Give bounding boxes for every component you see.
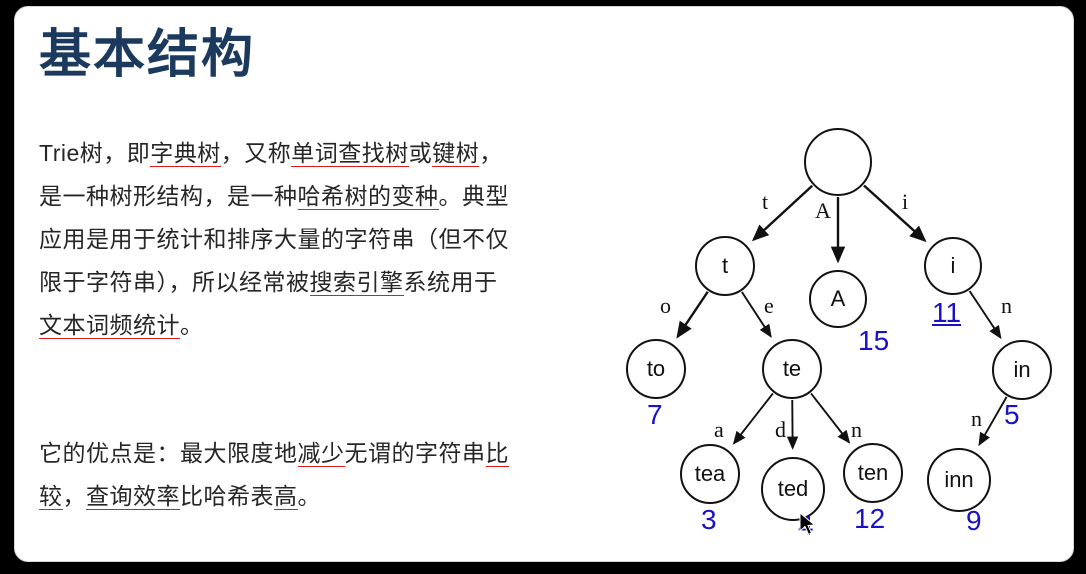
text-run: 或 <box>409 140 433 166</box>
trie-edge-label-te-ted: d <box>775 417 786 443</box>
underlined-text-run: 搜索引擎 <box>310 269 404 296</box>
trie-node-ten: ten <box>843 443 903 503</box>
underlined-text-run: 单词查找树 <box>291 140 409 167</box>
underlined-text-run: 键树 <box>432 140 479 167</box>
trie-edge-label-t-te: e <box>764 293 774 319</box>
text-run: ，又称 <box>221 140 292 166</box>
underlined-text-run: 查询效率 <box>86 483 180 510</box>
trie-count-ten: 12 <box>854 503 885 535</box>
trie-count-in: 5 <box>1004 399 1020 431</box>
trie-edge-label-root-t: t <box>762 189 768 215</box>
text-run: 系统用于 <box>404 269 498 295</box>
text-run: 无谓的字符串 <box>345 440 486 466</box>
text-run: 。 <box>298 483 322 509</box>
underlined-text-run: 哈希 <box>298 183 345 210</box>
trie-node-inn: inn <box>927 448 991 512</box>
text-run: 它的优点是：最大限度地 <box>39 440 298 466</box>
trie-count-to: 7 <box>647 399 663 431</box>
trie-node-root <box>804 128 872 196</box>
trie-edge-label-root-A: A <box>815 198 831 224</box>
underlined-text-run: 树的变种 <box>345 183 439 210</box>
trie-node-A: A <box>809 270 867 328</box>
trie-edge-label-i-in: n <box>1001 293 1012 319</box>
trie-edge-te-tea <box>734 393 773 443</box>
trie-edge-label-te-ten: n <box>851 417 862 443</box>
mouse-pointer-icon <box>799 512 817 538</box>
trie-node-to: to <box>626 339 686 399</box>
trie-edge-label-root-i: i <box>902 189 908 215</box>
text-run: 。 <box>180 312 204 338</box>
text-run: ， <box>63 483 87 509</box>
trie-node-t: t <box>695 236 755 296</box>
trie-edge-root-i <box>864 185 925 240</box>
body-paragraph-2: 它的优点是：最大限度地减少无谓的字符串比较，查询效率比哈希表高。 <box>39 432 509 518</box>
trie-edge-te-ten <box>811 393 849 442</box>
trie-node-in: in <box>992 340 1052 400</box>
trie-count-A: 15 <box>858 325 889 357</box>
page-title: 基本结构 <box>39 27 255 84</box>
trie-node-i: i <box>924 237 982 295</box>
underlined-text-run: 文本词频统计 <box>39 312 180 339</box>
trie-node-te: te <box>762 339 822 399</box>
underlined-text-run: 高 <box>274 483 298 510</box>
underlined-text-run: 减少 <box>298 440 345 467</box>
text-run: Trie树，即 <box>39 140 150 166</box>
trie-edge-label-in-inn: n <box>971 406 982 432</box>
trie-count-inn: 9 <box>966 505 982 537</box>
trie-edge-label-t-to: o <box>660 293 671 319</box>
slide-frame: 基本结构 Trie树，即字典树，又称单词查找树或键树，是一种树形结构，是一种哈希… <box>14 6 1074 562</box>
trie-edge-in-inn <box>979 397 1006 445</box>
trie-count-tea: 3 <box>701 504 717 536</box>
trie-edge-i-in <box>970 291 1001 338</box>
trie-edge-t-to <box>678 292 708 337</box>
trie-diagram: tAitoteinteatedteninn tAioeadnnn 1511753… <box>589 7 1073 561</box>
trie-edge-label-te-tea: a <box>714 417 724 443</box>
trie-node-tea: tea <box>680 444 740 504</box>
body-paragraph-1: Trie树，即字典树，又称单词查找树或键树，是一种树形结构，是一种哈希树的变种。… <box>39 132 509 347</box>
trie-count-i: 11 <box>932 297 961 329</box>
text-run: 比哈希表 <box>180 483 274 509</box>
underlined-text-run: 字典树 <box>150 140 221 167</box>
